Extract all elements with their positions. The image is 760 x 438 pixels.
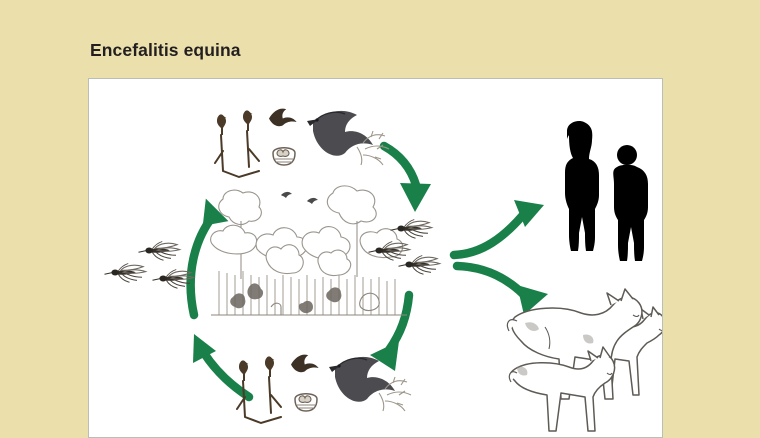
birds-bottom-group bbox=[237, 355, 411, 423]
mosquitoes-left-group bbox=[105, 242, 194, 289]
page-title: Encefalitis equina bbox=[90, 40, 241, 61]
humans-group bbox=[565, 121, 648, 261]
diagram-panel bbox=[88, 78, 663, 438]
horses-group bbox=[507, 289, 663, 431]
arrow-mosq-to-horses bbox=[457, 266, 548, 315]
birds-top-group bbox=[215, 109, 389, 177]
transmission-cycle-diagram bbox=[89, 79, 663, 438]
arrow-mosq-to-humans bbox=[454, 200, 544, 255]
arrow-birds-top-to-mosq-right bbox=[384, 146, 431, 212]
